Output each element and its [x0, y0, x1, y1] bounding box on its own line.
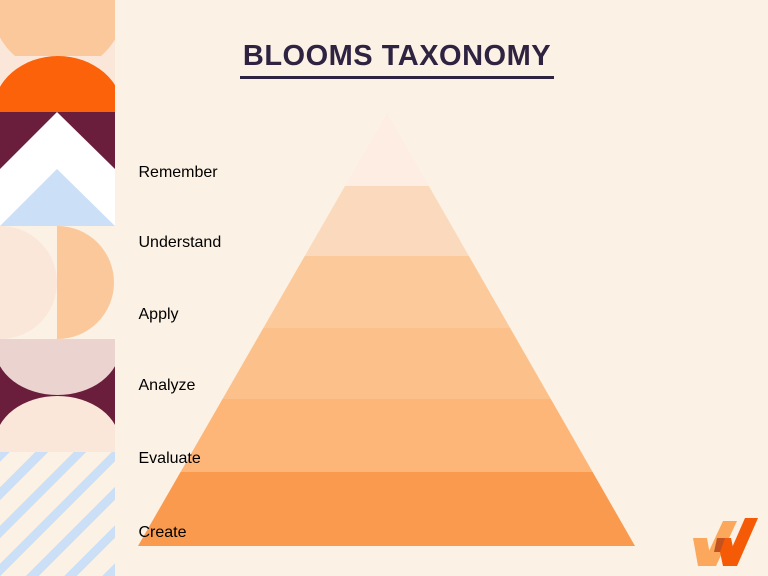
maroon-domes-cell — [0, 339, 115, 452]
slide-canvas: BLOOMS TAXONOMY RememberUnderstandApplyA… — [0, 0, 768, 576]
page-title: BLOOMS TAXONOMY — [0, 40, 768, 79]
pyramid-label-evaluate: Evaluate — [139, 450, 636, 468]
pyramid-label-apply: Apply — [139, 306, 636, 324]
page-title-text: BLOOMS TAXONOMY — [240, 40, 554, 79]
pyramid-label-remember: Remember — [139, 164, 636, 182]
split-half-circles-cell — [0, 226, 115, 339]
pyramid-label-create: Create — [139, 524, 636, 542]
w-logo — [690, 508, 758, 568]
peach-half-circle-shape — [57, 226, 114, 339]
blue-triangle-shape — [0, 169, 115, 226]
left-pattern-strip — [0, 0, 115, 576]
pale-half-circle-shape — [0, 226, 57, 339]
white-triangle-cell — [0, 169, 115, 226]
diagonal-stripes-cell — [0, 452, 115, 576]
maroon-chevron-cell — [0, 112, 115, 169]
peach-dome-shape — [0, 396, 115, 452]
pink-dome-shape — [0, 339, 115, 395]
pyramid-label-analyze: Analyze — [139, 377, 636, 395]
white-triangle-shape — [0, 112, 115, 169]
bloom-taxonomy-pyramid: RememberUnderstandApplyAnalyzeEvaluateCr… — [138, 113, 635, 546]
pyramid-label-understand: Understand — [139, 234, 636, 252]
